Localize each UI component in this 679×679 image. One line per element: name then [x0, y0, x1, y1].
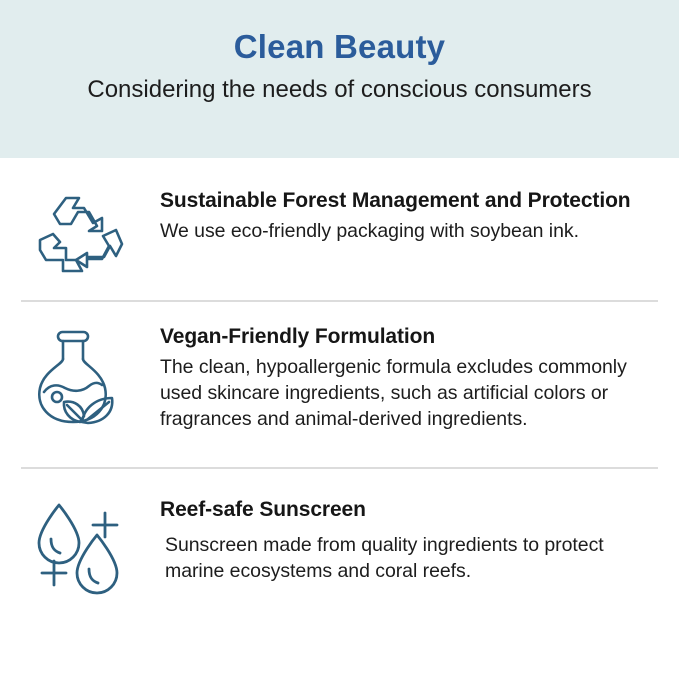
- feature-body: Sustainable Forest Management and Protec…: [136, 188, 657, 245]
- feature-description: We use eco-friendly packaging with soybe…: [160, 219, 657, 245]
- feature-body: Reef-safe Sunscreen Sunscreen made from …: [136, 497, 657, 585]
- feature-item-reef-safe-sunscreen: Reef-safe Sunscreen Sunscreen made from …: [0, 469, 679, 619]
- water-drops-plus-icon: [32, 497, 136, 597]
- feature-heading: Sustainable Forest Management and Protec…: [160, 188, 657, 214]
- feature-list: Sustainable Forest Management and Protec…: [0, 158, 679, 619]
- recycle-icon: [32, 188, 136, 282]
- feature-item-vegan-formulation: Vegan-Friendly Formulation The clean, hy…: [0, 302, 679, 467]
- page-title: Clean Beauty: [234, 28, 445, 67]
- feature-item-sustainable-forest: Sustainable Forest Management and Protec…: [0, 158, 679, 300]
- feature-heading: Vegan-Friendly Formulation: [160, 324, 657, 350]
- flask-leaf-icon: [32, 324, 136, 438]
- page-subtitle: Considering the needs of conscious consu…: [87, 76, 591, 105]
- feature-heading: Reef-safe Sunscreen: [160, 497, 657, 523]
- feature-description: The clean, hypoallergenic formula exclud…: [160, 355, 657, 432]
- clean-beauty-infographic: Clean Beauty Considering the needs of co…: [0, 0, 679, 679]
- feature-body: Vegan-Friendly Formulation The clean, hy…: [136, 324, 657, 432]
- feature-description: Sunscreen made from quality ingredients …: [160, 533, 657, 584]
- header-band: Clean Beauty Considering the needs of co…: [0, 0, 679, 158]
